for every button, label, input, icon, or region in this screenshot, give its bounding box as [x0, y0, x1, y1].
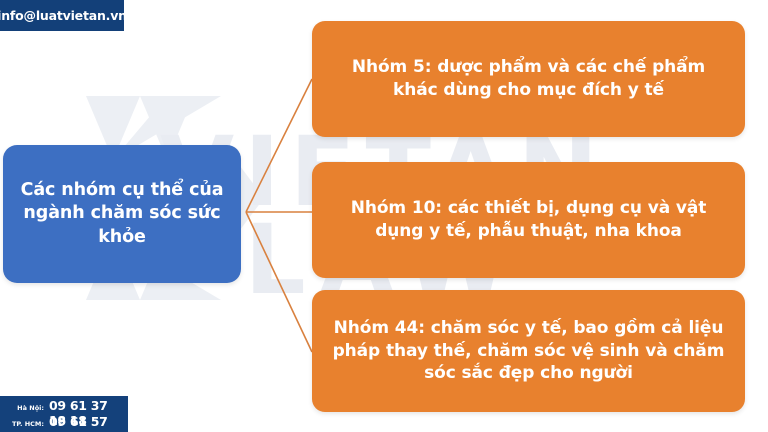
branch-node-nhom-10[interactable]: Nhóm 10: các thiết bị, dụng cụ và vật dụ… — [312, 162, 745, 278]
phone-row-hanoi: Hà Nội: 09 61 37 18 18 — [6, 398, 128, 414]
branch-node-label: Nhóm 5: dược phẩm và các chế phẩm khác d… — [312, 56, 745, 102]
branch-node-nhom-5[interactable]: Nhóm 5: dược phẩm và các chế phẩm khác d… — [312, 21, 745, 137]
root-node-label: Các nhóm cụ thể của ngành chăm sóc sức k… — [3, 179, 241, 248]
phone-row-hcm: TP. HCM: 09 61 57 18 18 — [6, 414, 128, 430]
root-node[interactable]: Các nhóm cụ thể của ngành chăm sóc sức k… — [3, 145, 241, 283]
phone-city-label: TP. HCM: — [6, 420, 44, 428]
phone-badge: Hà Nội: 09 61 37 18 18 TP. HCM: 09 61 57… — [0, 396, 128, 432]
diagram-canvas: VIETAN LAW Các nhóm cụ thể của ngành chă… — [0, 0, 768, 432]
branch-node-label: Nhóm 10: các thiết bị, dụng cụ và vật dụ… — [312, 197, 745, 243]
connector-to-nhom-44 — [246, 212, 312, 352]
email-badge-text: info@luatvietan.vn — [0, 8, 127, 23]
branch-node-nhom-44[interactable]: Nhóm 44: chăm sóc y tế, bao gồm cả liệu … — [312, 290, 745, 412]
phone-city-label: Hà Nội: — [6, 404, 44, 412]
branch-node-label: Nhóm 44: chăm sóc y tế, bao gồm cả liệu … — [312, 317, 745, 385]
connector-to-nhom-5 — [246, 79, 312, 212]
email-badge[interactable]: info@luatvietan.vn — [0, 0, 124, 31]
phone-number: 09 61 57 18 18 — [49, 414, 128, 432]
